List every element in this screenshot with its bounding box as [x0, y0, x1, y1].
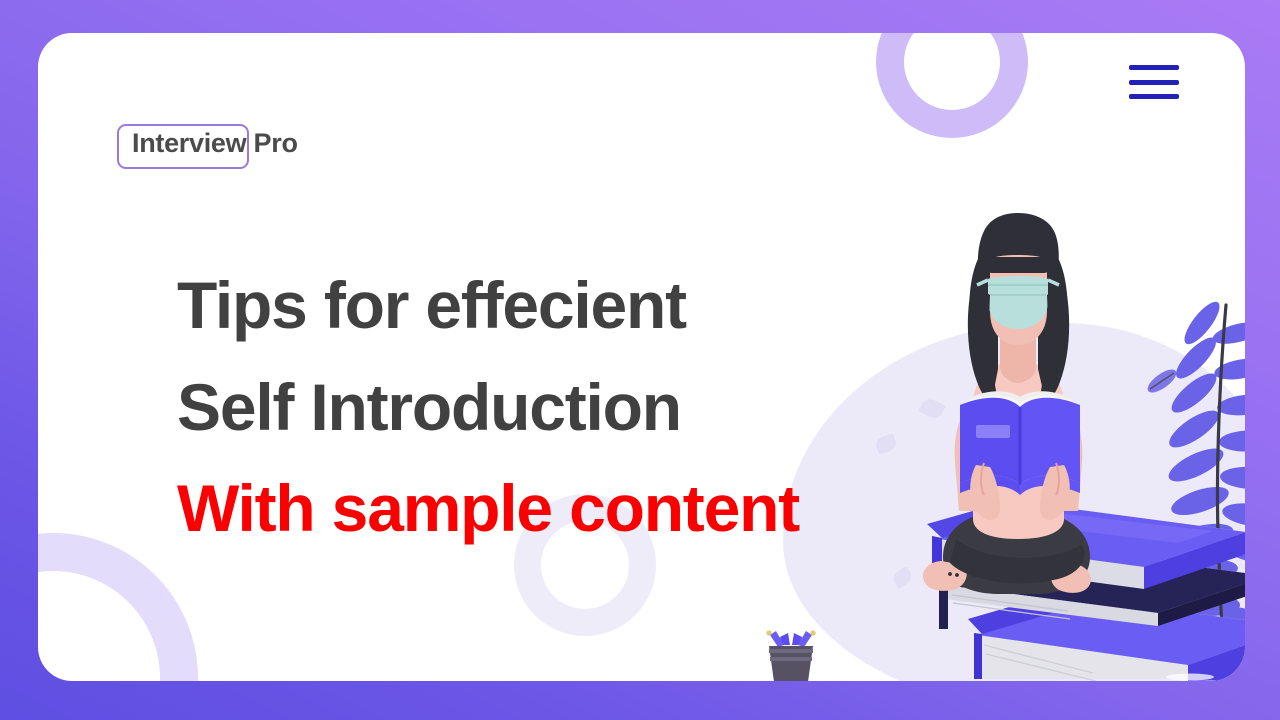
headline-line-1: Tips for effecient: [177, 255, 937, 357]
decorative-ring-top: [876, 33, 1028, 138]
menu-bar-3: [1129, 94, 1179, 99]
slide-canvas: Interview Pro Tips for effecient Self In…: [0, 0, 1280, 720]
menu-bar-1: [1129, 65, 1179, 70]
headline-block: Tips for effecient Self Introduction Wit…: [177, 255, 937, 560]
headline-line-2: Self Introduction: [177, 357, 937, 459]
content-card: Interview Pro Tips for effecient Self In…: [38, 33, 1245, 681]
logo-label: Interview Pro: [132, 128, 298, 159]
hamburger-menu-icon[interactable]: [1129, 61, 1187, 103]
headline-line-3: With sample content: [177, 458, 937, 560]
menu-bar-2: [1129, 80, 1179, 85]
decorative-ring-bottom-left: [38, 533, 198, 681]
potted-plant-icon: [757, 630, 825, 681]
